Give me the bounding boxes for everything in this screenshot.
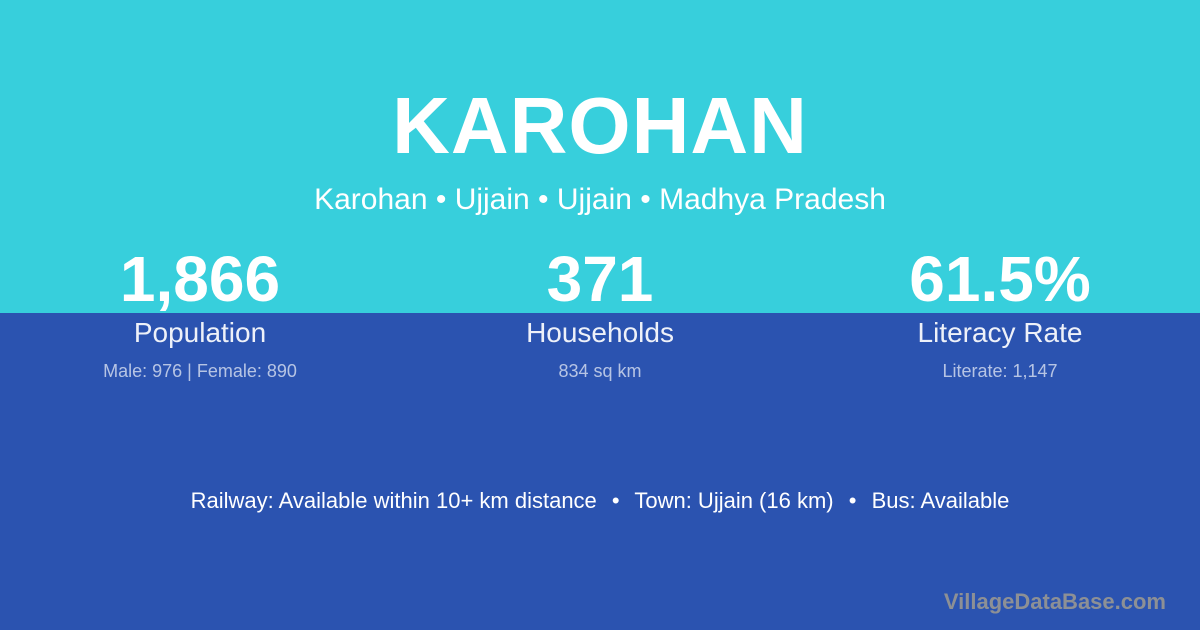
facility-railway: Railway: Available within 10+ km distanc… xyxy=(191,488,597,513)
facility-town: Town: Ujjain (16 km) xyxy=(634,488,833,513)
stat-label: Literacy Rate xyxy=(800,316,1200,350)
facility-bus: Bus: Available xyxy=(872,488,1010,513)
facility-separator-icon: • xyxy=(603,486,629,516)
stat-value: 61.5% xyxy=(800,246,1200,312)
stat-label: Population xyxy=(0,316,400,350)
stat-value: 1,866 xyxy=(0,246,400,312)
stat-label: Households xyxy=(400,316,800,350)
stats-row: 1,866 Population Male: 976 | Female: 890… xyxy=(0,246,1200,382)
stat-value: 371 xyxy=(400,246,800,312)
stat-sublabel: 834 sq km xyxy=(400,360,800,382)
stat-sublabel: Literate: 1,147 xyxy=(800,360,1200,382)
card-content: KAROHAN Karohan • Ujjain • Ujjain • Madh… xyxy=(0,0,1200,630)
facilities-line: Railway: Available within 10+ km distanc… xyxy=(0,486,1200,516)
stat-sublabel: Male: 976 | Female: 890 xyxy=(0,360,400,382)
page-title: KAROHAN xyxy=(0,79,1200,173)
stat-literacy-rate: 61.5% Literacy Rate Literate: 1,147 xyxy=(800,246,1200,382)
facility-separator-icon: • xyxy=(840,486,866,516)
village-info-card: KAROHAN Karohan • Ujjain • Ujjain • Madh… xyxy=(0,0,1200,630)
stat-population: 1,866 Population Male: 976 | Female: 890 xyxy=(0,246,400,382)
brand-watermark: VillageDataBase.com xyxy=(944,588,1166,616)
stat-households: 371 Households 834 sq km xyxy=(400,246,800,382)
breadcrumb: Karohan • Ujjain • Ujjain • Madhya Prade… xyxy=(0,181,1200,219)
